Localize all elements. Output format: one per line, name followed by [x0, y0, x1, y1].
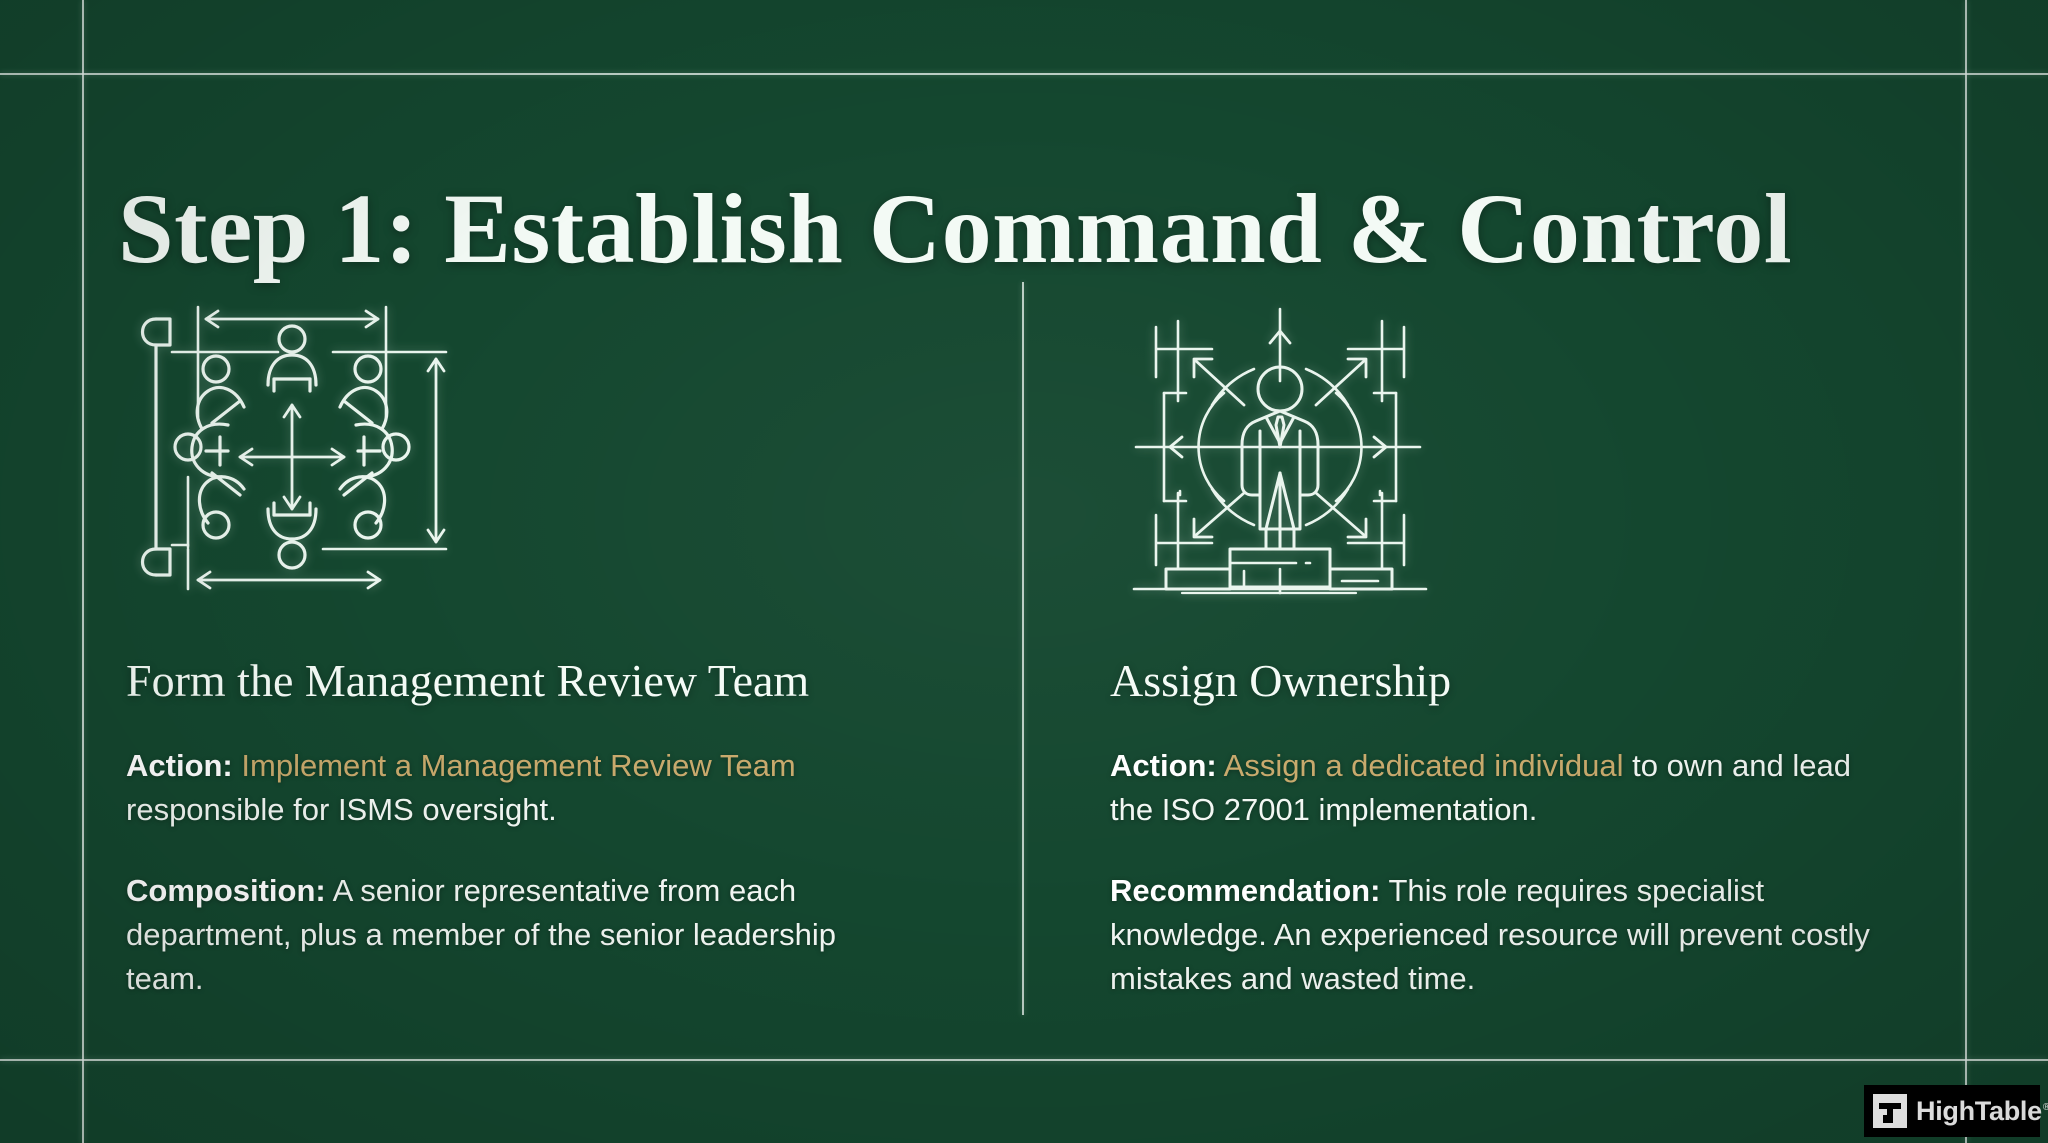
paragraph-highlight: Implement a Management Review Team	[241, 748, 795, 783]
card-management-review-team: Form the Management Review Team Action: …	[126, 282, 946, 1001]
paragraph-recommendation-right: Recommendation: This role requires speci…	[1110, 869, 1900, 1001]
paragraph-lead-label: Recommendation:	[1110, 873, 1380, 908]
logo-text-label: HighTable	[1916, 1096, 2042, 1126]
frame-rule-bottom	[0, 1059, 2048, 1061]
icon-container-left	[126, 282, 946, 612]
paragraph-action-left: Action: Implement a Management Review Te…	[126, 744, 916, 832]
frame-rule-top	[0, 73, 2048, 75]
hightable-logo: HighTable®	[1864, 1085, 2040, 1137]
paragraph-lead-label: Composition:	[126, 873, 326, 908]
card-assign-ownership: Assign Ownership Action: Assign a dedica…	[1110, 282, 1930, 1001]
paragraph-highlight: Assign a dedicated individual	[1224, 748, 1624, 783]
paragraph-lead-label: Action:	[126, 748, 233, 783]
icon-container-right	[1110, 282, 1930, 612]
card-heading-left: Form the Management Review Team	[126, 656, 946, 707]
slide-canvas: Step 1: Establish Command & Control	[0, 0, 2048, 1143]
hightable-mark-icon	[1873, 1094, 1907, 1128]
registered-mark: ®	[2043, 1102, 2048, 1113]
paragraph-composition-left: Composition: A senior representative fro…	[126, 869, 916, 1001]
page-title: Step 1: Establish Command & Control	[118, 175, 1792, 283]
management-review-team-blueprint-icon	[128, 297, 458, 597]
hightable-wordmark: HighTable®	[1916, 1096, 2048, 1127]
frame-rule-right	[1965, 0, 1967, 1143]
frame-rule-left	[82, 0, 84, 1143]
column-divider	[1022, 282, 1024, 1015]
card-heading-right: Assign Ownership	[1110, 656, 1930, 707]
paragraph-body: responsible for ISMS oversight.	[126, 792, 557, 827]
paragraph-action-right: Action: Assign a dedicated individual to…	[1110, 744, 1900, 832]
paragraph-lead-label: Action:	[1110, 748, 1217, 783]
mark-foot	[1883, 1115, 1893, 1123]
assign-ownership-blueprint-icon	[1120, 297, 1440, 597]
